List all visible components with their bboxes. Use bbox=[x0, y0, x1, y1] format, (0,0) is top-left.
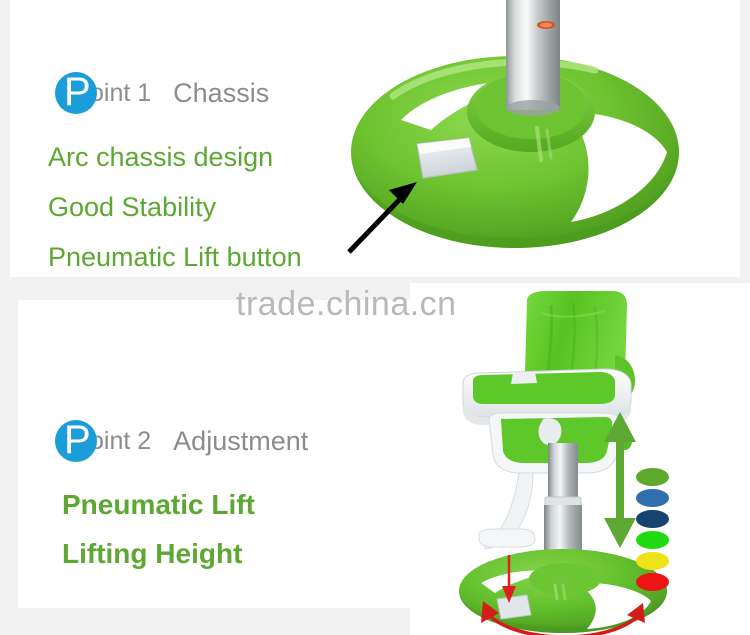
point-1-title: Chassis bbox=[173, 78, 269, 109]
point-2-heading: P oint 2 Adjustment bbox=[55, 420, 308, 462]
swatch-navy-blue[interactable] bbox=[636, 510, 669, 528]
point-2-title: Adjustment bbox=[173, 426, 308, 457]
point-2-badge: P bbox=[55, 420, 97, 462]
swatch-bright-green[interactable] bbox=[636, 531, 669, 549]
point-2-feature-1: Pneumatic Lift bbox=[62, 489, 255, 521]
lift-height-arrow bbox=[600, 410, 640, 550]
badge-letter-p: P bbox=[64, 71, 91, 113]
point-2-label: oint 2 bbox=[90, 427, 151, 456]
point-1-feature-2: Good Stability bbox=[48, 192, 216, 223]
swatch-olive-green[interactable] bbox=[636, 468, 669, 486]
point-1-feature-3: Pneumatic Lift button bbox=[48, 242, 302, 273]
swatch-medium-blue[interactable] bbox=[636, 489, 669, 507]
point-1-heading: P oint 1 Chassis bbox=[55, 72, 269, 114]
point-2-feature-2: Lifting Height bbox=[62, 538, 242, 570]
color-swatches bbox=[636, 468, 669, 591]
swatch-yellow[interactable] bbox=[636, 552, 669, 570]
point-1-badge: P bbox=[55, 72, 97, 114]
point-1-label: oint 1 bbox=[90, 79, 151, 108]
watermark: trade.china.cn bbox=[236, 285, 457, 324]
badge-letter-p: P bbox=[64, 419, 91, 461]
chassis-photo bbox=[345, 0, 685, 272]
point-1-feature-1: Arc chassis design bbox=[48, 142, 273, 173]
swatch-red[interactable] bbox=[636, 573, 669, 591]
product-feature-graphic: P oint 1 Chassis Arc chassis design Good… bbox=[0, 0, 750, 635]
